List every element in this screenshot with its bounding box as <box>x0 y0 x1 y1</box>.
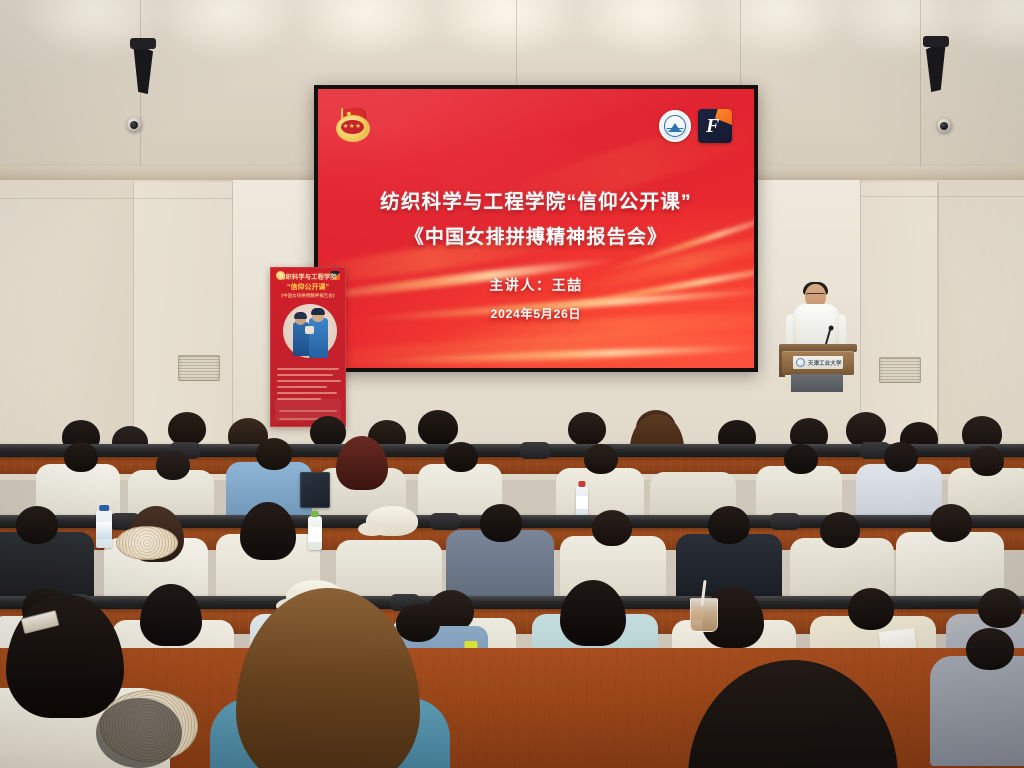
university-emblem <box>659 110 691 142</box>
tablet <box>300 472 330 508</box>
water-bottle <box>576 486 588 516</box>
desk-rail-5 <box>0 444 1024 457</box>
banner-subheading: 《中国女排拼搏精神报告会》 <box>271 293 345 299</box>
podium-plate-text: 天津工业大学 <box>808 359 842 367</box>
slide-subtitle: 《中国女排拼搏精神报告会》 <box>318 222 754 249</box>
slide-speaker-line: 主讲人：王喆 <box>318 275 754 295</box>
air-vent-right <box>879 357 921 383</box>
bracket-mount-left <box>130 38 156 49</box>
bracket-mount-right <box>923 36 949 47</box>
projection-screen: ★★★ F 纺织科学与工程学院“信仰公开课” 《中国女排拼搏精神报告会》 主讲人… <box>314 85 758 372</box>
water-bottle <box>96 510 112 548</box>
speaker-glasses <box>806 293 825 298</box>
communist-youth-league-emblem: ★★★ <box>335 105 373 143</box>
audience-seating <box>0 398 1024 768</box>
partner-square-logo: F <box>698 109 732 143</box>
banner-photo <box>283 304 337 364</box>
dome-security-camera-left <box>127 117 142 132</box>
banner-quote: “信仰公开课” <box>271 282 345 292</box>
water-bottle <box>308 516 322 550</box>
podium-area: 天津工业大学 <box>769 282 865 392</box>
slide-date-line: 2024年5月26日 <box>318 305 754 322</box>
bubble-tea-cup <box>690 598 718 632</box>
banner-heading: 纺织科学与工程学院 <box>271 272 345 281</box>
slide-title: 纺织科学与工程学院“信仰公开课” <box>318 185 754 214</box>
lecture-hall-photo: ★★★ F 纺织科学与工程学院“信仰公开课” 《中国女排拼搏精神报告会》 主讲人… <box>0 0 1024 768</box>
dome-security-camera-right <box>937 118 952 133</box>
podium-university-emblem <box>796 358 805 367</box>
podium-base <box>791 374 843 392</box>
podium-nameplate: 天津工业大学 <box>793 356 843 369</box>
sun-hat <box>116 526 178 560</box>
slide-content: ★★★ F 纺织科学与工程学院“信仰公开课” 《中国女排拼搏精神报告会》 主讲人… <box>318 89 754 368</box>
air-vent-left <box>178 355 220 381</box>
